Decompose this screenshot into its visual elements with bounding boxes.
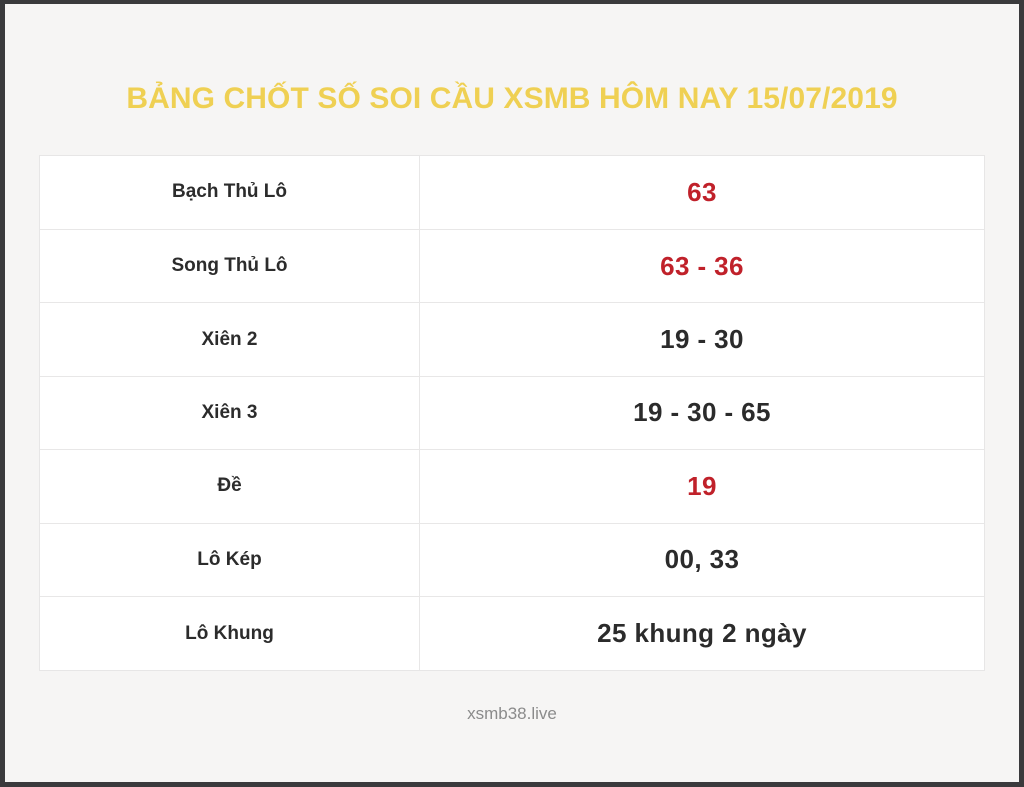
- page-title: BẢNG CHỐT SỐ SOI CẦU XSMB HÔM NAY 15/07/…: [5, 82, 1019, 116]
- table-row: Bạch Thủ Lô 63: [40, 156, 984, 229]
- soi-cau-table: Bạch Thủ Lô 63 Song Thủ Lô 63 - 36 Xiên …: [40, 156, 984, 670]
- table-row: Lô Khung 25 khung 2 ngày: [40, 597, 984, 670]
- row-value-xien-3: 19 - 30 - 65: [420, 376, 985, 449]
- table-row: Xiên 2 19 - 30: [40, 303, 984, 376]
- footer-site-credit: xsmb38.live: [5, 704, 1019, 724]
- row-label-xien-2: Xiên 2: [40, 303, 420, 376]
- row-label-lo-khung: Lô Khung: [40, 597, 420, 670]
- table-row: Lô Kép 00, 33: [40, 523, 984, 596]
- table-row: Đề 19: [40, 450, 984, 523]
- row-label-bach-thu-lo: Bạch Thủ Lô: [40, 156, 420, 229]
- row-value-bach-thu-lo: 63: [420, 156, 985, 229]
- row-value-de: 19: [420, 450, 985, 523]
- table-row: Song Thủ Lô 63 - 36: [40, 229, 984, 302]
- soi-cau-table-container: Bạch Thủ Lô 63 Song Thủ Lô 63 - 36 Xiên …: [39, 155, 985, 671]
- page-frame: BẢNG CHỐT SỐ SOI CẦU XSMB HÔM NAY 15/07/…: [5, 4, 1019, 782]
- row-value-xien-2: 19 - 30: [420, 303, 985, 376]
- row-value-lo-kep: 00, 33: [420, 523, 985, 596]
- row-label-song-thu-lo: Song Thủ Lô: [40, 229, 420, 302]
- row-value-lo-khung: 25 khung 2 ngày: [420, 597, 985, 670]
- row-label-lo-kep: Lô Kép: [40, 523, 420, 596]
- soi-cau-table-body: Bạch Thủ Lô 63 Song Thủ Lô 63 - 36 Xiên …: [40, 156, 984, 670]
- row-label-de: Đề: [40, 450, 420, 523]
- row-value-song-thu-lo: 63 - 36: [420, 229, 985, 302]
- table-row: Xiên 3 19 - 30 - 65: [40, 376, 984, 449]
- row-label-xien-3: Xiên 3: [40, 376, 420, 449]
